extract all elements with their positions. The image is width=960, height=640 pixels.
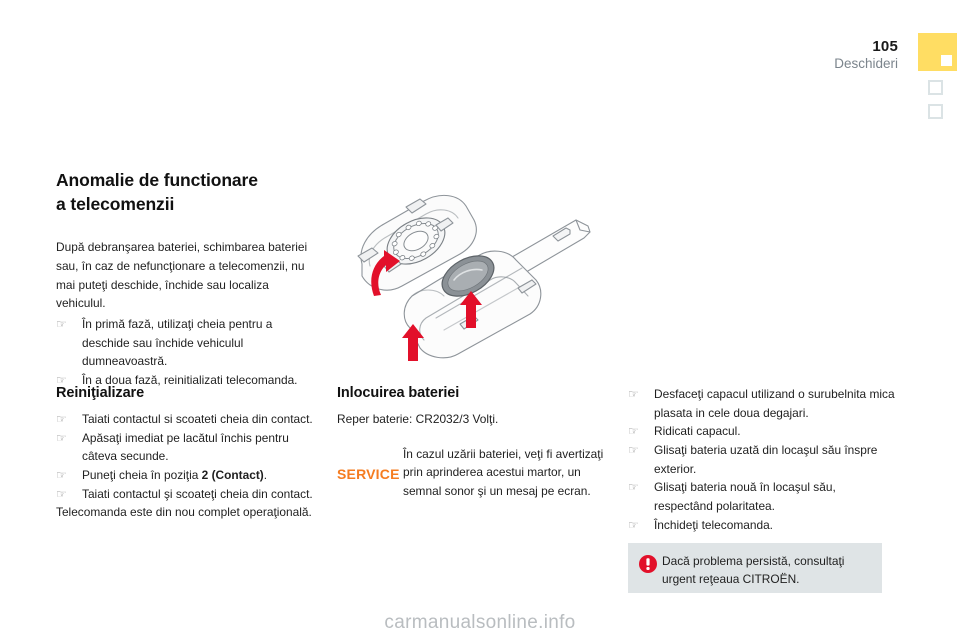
chapter-tab-idle-2[interactable] <box>928 104 943 119</box>
list-item-label: Glisaţi bateria nouă în locaşul său, res… <box>654 480 836 513</box>
list-item: ☞ Închideţi telecomanda. <box>628 516 896 535</box>
warning-text: Dacă problema persistă, consultaţi urgen… <box>658 553 872 589</box>
reinitialization-closing: Telecomanda este din nou complet operaţi… <box>56 503 322 522</box>
intro-step-list: ☞ În primă fază, utilizaţi cheia pentru … <box>56 315 318 390</box>
list-item: ☞ Desfaceţi capacul utilizand o surubeln… <box>628 385 896 422</box>
page-title-line-2: a telecomenzii <box>56 194 174 214</box>
car-key-battery-cover-illustration <box>340 168 602 364</box>
hand-pointer-icon: ☞ <box>628 385 639 404</box>
reinitialization-heading: Reiniţializare <box>56 385 322 401</box>
list-item-label: Desfaceţi capacul utilizand o surubelnit… <box>654 387 895 420</box>
list-item: ☞ Glisaţi bateria uzată din locaşul său … <box>628 441 896 478</box>
list-item: ☞ Puneţi cheia în poziţia 2 (Contact). <box>56 466 322 485</box>
right-column-steps: ☞ Desfaceţi capacul utilizand o surubeln… <box>628 385 896 535</box>
warning-exclamation-icon <box>638 554 658 574</box>
intro-paragraph: După debranşarea bateriei, schimbarea ba… <box>56 238 318 313</box>
list-item: ☞ Ridicati capacul. <box>628 422 896 441</box>
hand-pointer-icon: ☞ <box>56 485 67 504</box>
service-indicator-note: SERVICE În cazul uzării bateriei, veţi f… <box>337 445 609 501</box>
reinitialization-section: Reiniţializare ☞ Taiati contactul si sco… <box>56 385 322 524</box>
chapter-tab-active-marker <box>941 55 952 66</box>
page-title-line-1: Anomalie de functionare <box>56 170 258 190</box>
service-note-text: În cazul uzării bateriei, veţi fi averti… <box>403 445 609 501</box>
list-item: ☞ În primă fază, utilizaţi cheia pentru … <box>56 315 318 371</box>
list-item-label: Taiati contactul şi scoateţi cheia din c… <box>82 487 313 501</box>
list-item-label-emphasis: 2 (Contact) <box>202 468 264 482</box>
battery-replacement-heading: Inlocuirea bateriei <box>337 385 609 401</box>
page-title: Anomalie de functionare a telecomenzii <box>56 168 318 216</box>
list-item-label: Apăsaţi imediat pe lacătul închis pentru… <box>82 431 289 464</box>
chapter-tab-active[interactable] <box>918 33 957 71</box>
chapter-tab-idle-1[interactable] <box>928 80 943 95</box>
list-item: ☞ Taiati contactul si scoateti cheia din… <box>56 410 322 429</box>
battery-step-list: ☞ Desfaceţi capacul utilizand o surubeln… <box>628 385 896 535</box>
list-item-label: Taiati contactul si scoateti cheia din c… <box>82 412 313 426</box>
list-item: ☞ Glisaţi bateria nouă în locaşul său, r… <box>628 478 896 515</box>
battery-replacement-section: Inlocuirea bateriei Reper baterie: CR203… <box>337 385 609 501</box>
list-item-label: Închideţi telecomanda. <box>654 518 773 532</box>
battery-reference: Reper baterie: CR2032/3 Volţi. <box>337 410 609 429</box>
list-item-label-before: Puneţi cheia în poziţia <box>82 468 202 482</box>
left-column: Anomalie de functionare a telecomenzii D… <box>56 168 318 390</box>
page-number: 105 <box>872 38 898 55</box>
service-badge: SERVICE <box>337 445 403 482</box>
list-item-label: Ridicati capacul. <box>654 424 741 438</box>
hand-pointer-icon: ☞ <box>56 466 67 485</box>
hand-pointer-icon: ☞ <box>628 441 639 460</box>
hand-pointer-icon: ☞ <box>56 410 67 429</box>
warning-box: Dacă problema persistă, consultaţi urgen… <box>628 543 882 593</box>
hand-pointer-icon: ☞ <box>628 478 639 497</box>
chapter-tab-stack <box>918 33 960 119</box>
manual-page: 105 Deschideri Anomalie de functionare a… <box>0 0 960 640</box>
list-item-label: În primă fază, utilizaţi cheia pentru a … <box>82 317 272 368</box>
list-item: ☞ Apăsaţi imediat pe lacătul închis pent… <box>56 429 322 466</box>
reinitialization-step-list: ☞ Taiati contactul si scoateti cheia din… <box>56 410 322 503</box>
list-item-label: Glisaţi bateria uzată din locaşul său în… <box>654 443 877 476</box>
site-watermark: carmanualsonline.info <box>0 612 960 634</box>
hand-pointer-icon: ☞ <box>628 422 639 441</box>
list-item: ☞ Taiati contactul şi scoateţi cheia din… <box>56 485 322 504</box>
hand-pointer-icon: ☞ <box>56 429 67 448</box>
hand-pointer-icon: ☞ <box>56 315 67 334</box>
list-item-label-after: . <box>264 468 267 482</box>
hand-pointer-icon: ☞ <box>628 516 639 535</box>
section-title: Deschideri <box>834 56 898 71</box>
